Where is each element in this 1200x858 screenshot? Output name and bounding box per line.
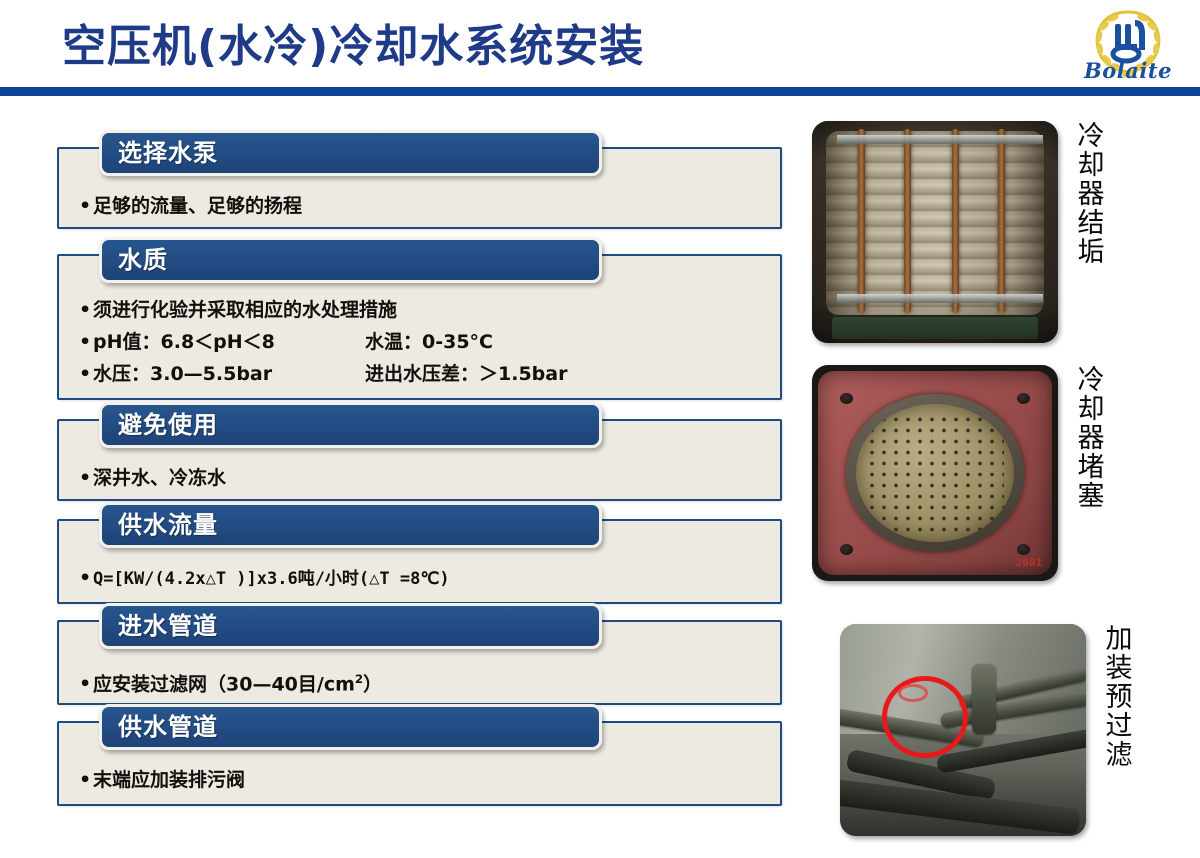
photo-caption: 加装预过滤 xyxy=(1102,624,1130,769)
bullet-dot-icon: • xyxy=(79,462,93,494)
block-title: 进水管道 xyxy=(102,612,218,640)
bullet-item: • 水压：3.0—5.5bar 进出水压差：＞1.5bar xyxy=(79,358,769,390)
block-header-bar[interactable]: 供水流量 xyxy=(99,502,602,548)
bolaite-logo: Bolaite xyxy=(1080,4,1176,86)
cooler-blockage-photo: 2001 xyxy=(812,365,1058,581)
bullet-text: 足够的流量、足够的扬程 xyxy=(93,190,302,222)
bullet-text: 须进行化验并采取相应的水处理措施 xyxy=(93,294,397,326)
bullet-dot-icon: • xyxy=(79,326,93,358)
bullet-text: 深井水、冷冻水 xyxy=(93,462,226,494)
block-bullets: • 末端应加装排污阀 xyxy=(79,764,769,796)
header-divider-rule xyxy=(0,87,1200,96)
pre-filter-install-photo xyxy=(840,624,1086,836)
block-bullets: • 应安装过滤网（30—40目/cm2） xyxy=(79,663,769,700)
block-header-bar[interactable]: 水质 xyxy=(99,237,602,283)
bullet-item: • 末端应加装排污阀 xyxy=(79,764,769,796)
bullet-item: • Q=[KW/(4.2x△T )]x3.6吨/小时(△T =8℃) xyxy=(79,562,769,595)
photo-row-cooler-scaling: 冷却器结垢 xyxy=(812,121,1200,343)
bullet-item: • pH值：6.8＜pH＜8 水温：0-35°C xyxy=(79,326,769,358)
annotation-circle-small-icon xyxy=(898,684,928,702)
block-bullets: • 须进行化验并采取相应的水处理措施 • pH值：6.8＜pH＜8 水温：0-3… xyxy=(79,294,769,390)
block-header-bar[interactable]: 供水管道 xyxy=(99,704,602,750)
bullet-text-secondary: 进出水压差：＞1.5bar xyxy=(365,358,567,390)
bullet-item: • 足够的流量、足够的扬程 xyxy=(79,190,769,222)
bullet-text: 应安装过滤网（30—40目/cm2） xyxy=(93,663,382,700)
block-title: 避免使用 xyxy=(102,411,218,439)
photo-row-pre-filter: 加装预过滤 xyxy=(812,624,1200,836)
bullet-item: • 须进行化验并采取相应的水处理措施 xyxy=(79,294,769,326)
photo-caption: 冷却器结垢 xyxy=(1074,121,1102,266)
block-bullets: • 足够的流量、足够的扬程 xyxy=(79,190,769,222)
block-header-bar[interactable]: 选择水泵 xyxy=(99,130,602,176)
cooler-scaling-photo xyxy=(812,121,1058,343)
filter-mesh-superscript: 2 xyxy=(355,672,363,686)
content-blocks-column: 选择水泵 • 足够的流量、足够的扬程 水质 • 须进行化验并采取相应的水处理措施… xyxy=(0,97,812,858)
page-title: 空压机(水冷)冷却水系统安装 xyxy=(62,18,644,76)
slide-header: 空压机(水冷)冷却水系统安装 xyxy=(0,0,1200,97)
bullet-text-secondary: 水温：0-35°C xyxy=(365,326,493,358)
bullet-item: • 深井水、冷冻水 xyxy=(79,462,769,494)
bullet-dot-icon: • xyxy=(79,764,93,796)
photo-row-cooler-blockage: 2001 冷却器堵塞 xyxy=(812,365,1200,581)
bullet-dot-icon: • xyxy=(79,358,93,390)
block-header-bar[interactable]: 进水管道 xyxy=(99,603,602,649)
bullet-dot-icon: • xyxy=(79,668,93,700)
bullet-dot-icon: • xyxy=(79,190,93,222)
bullet-dot-icon: • xyxy=(79,562,93,594)
filter-mesh-text-pre: 应安装过滤网（30—40目/cm xyxy=(93,673,355,695)
block-bullets: • Q=[KW/(4.2x△T )]x3.6吨/小时(△T =8℃) xyxy=(79,562,769,595)
block-title: 供水流量 xyxy=(102,511,218,539)
logo-wordmark: Bolaite xyxy=(1080,58,1176,83)
bullet-text: pH值：6.8＜pH＜8 xyxy=(93,326,323,358)
filter-mesh-text-post: ） xyxy=(363,673,382,695)
block-header-bar[interactable]: 避免使用 xyxy=(99,402,602,448)
photo-stamp: 2001 xyxy=(1016,556,1043,569)
photo-caption: 冷却器堵塞 xyxy=(1074,365,1102,510)
photo-column: 冷却器结垢 2001 冷却器堵塞 加装预 xyxy=(812,97,1200,858)
bullet-text: 末端应加装排污阀 xyxy=(93,764,245,796)
block-title: 水质 xyxy=(102,246,168,274)
flow-formula-text: Q=[KW/(4.2x△T )]x3.6吨/小时(△T =8℃) xyxy=(93,563,450,595)
bullet-text: 水压：3.0—5.5bar xyxy=(93,358,323,390)
bullet-item: • 应安装过滤网（30—40目/cm2） xyxy=(79,663,769,700)
bullet-dot-icon: • xyxy=(79,294,93,326)
block-title: 选择水泵 xyxy=(102,139,218,167)
block-title: 供水管道 xyxy=(102,713,218,741)
block-bullets: • 深井水、冷冻水 xyxy=(79,462,769,494)
